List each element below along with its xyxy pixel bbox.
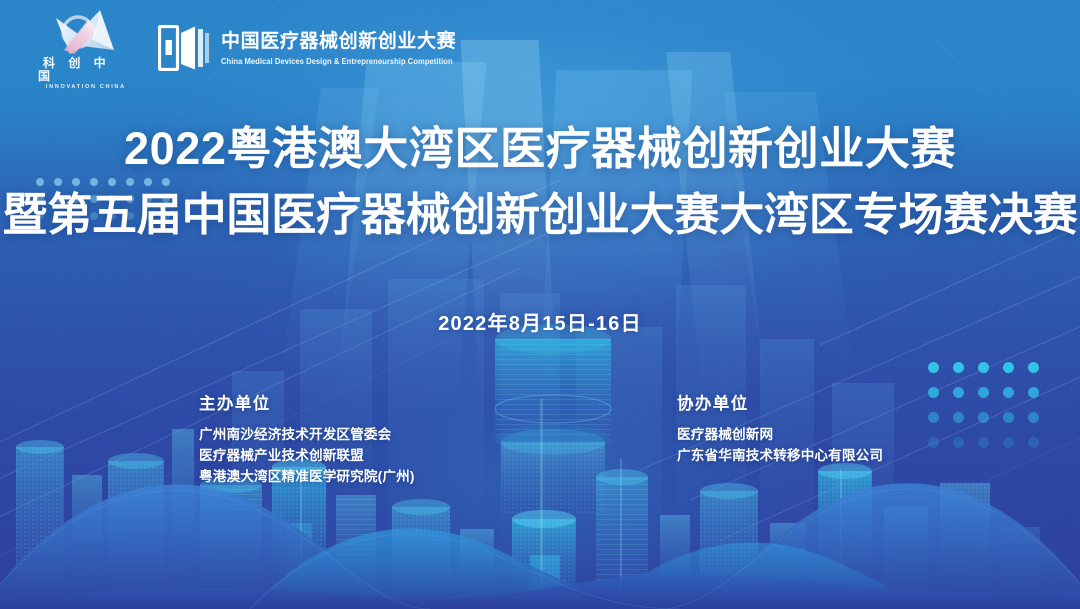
poster-header: 科 创 中 国 INNOVATION CHINA 中国医疗器械创新创业大赛 Ch… bbox=[0, 0, 1080, 96]
logo-innovation-china: 科 创 中 国 INNOVATION CHINA bbox=[38, 6, 132, 90]
logo-competition: 中国医疗器械创新创业大赛 China Medical Devices Desig… bbox=[158, 25, 456, 71]
organizer-heading: 主办单位 bbox=[199, 390, 415, 414]
title-line-1: 2022粤港澳大湾区医疗器械创新创业大赛 bbox=[0, 124, 1080, 174]
organizer-line: 广东省华南技术转移中心有限公司 bbox=[677, 445, 883, 466]
organizer-line: 医疗器械创新网 bbox=[677, 424, 883, 445]
innovation-china-mark-icon bbox=[48, 6, 122, 56]
competition-door-mark-icon bbox=[158, 25, 210, 71]
event-poster: 科 创 中 国 INNOVATION CHINA 中国医疗器械创新创业大赛 Ch… bbox=[0, 0, 1080, 609]
organizer-line: 广州南沙经济技术开发区管委会 bbox=[199, 424, 415, 445]
event-date: 2022年8月15日-16日 bbox=[0, 307, 1080, 336]
competition-title-cn: 中国医疗器械创新创业大赛 bbox=[221, 31, 456, 53]
organizer-column-host: 主办单位 广州南沙经济技术开发区管委会 医疗器械产业技术创新联盟 粤港澳大湾区精… bbox=[199, 390, 415, 487]
innovation-china-cn: 科 创 中 国 bbox=[38, 57, 132, 83]
competition-title-en: China Medical Devices Design & Entrepren… bbox=[221, 56, 456, 66]
organizer-column-coorganizer: 协办单位 医疗器械创新网 广东省华南技术转移中心有限公司 bbox=[677, 390, 883, 466]
poster-titles: 2022粤港澳大湾区医疗器械创新创业大赛 暨第五届中国医疗器械创新创业大赛大湾区… bbox=[0, 124, 1080, 241]
innovation-china-en: INNOVATION CHINA bbox=[44, 84, 126, 90]
title-line-2: 暨第五届中国医疗器械创新创业大赛大湾区专场赛决赛 bbox=[0, 190, 1080, 240]
organizer-heading: 协办单位 bbox=[677, 390, 883, 414]
organizer-line: 粤港澳大湾区精准医学研究院(广州) bbox=[199, 466, 415, 487]
organizer-line: 医疗器械产业技术创新联盟 bbox=[199, 445, 415, 466]
